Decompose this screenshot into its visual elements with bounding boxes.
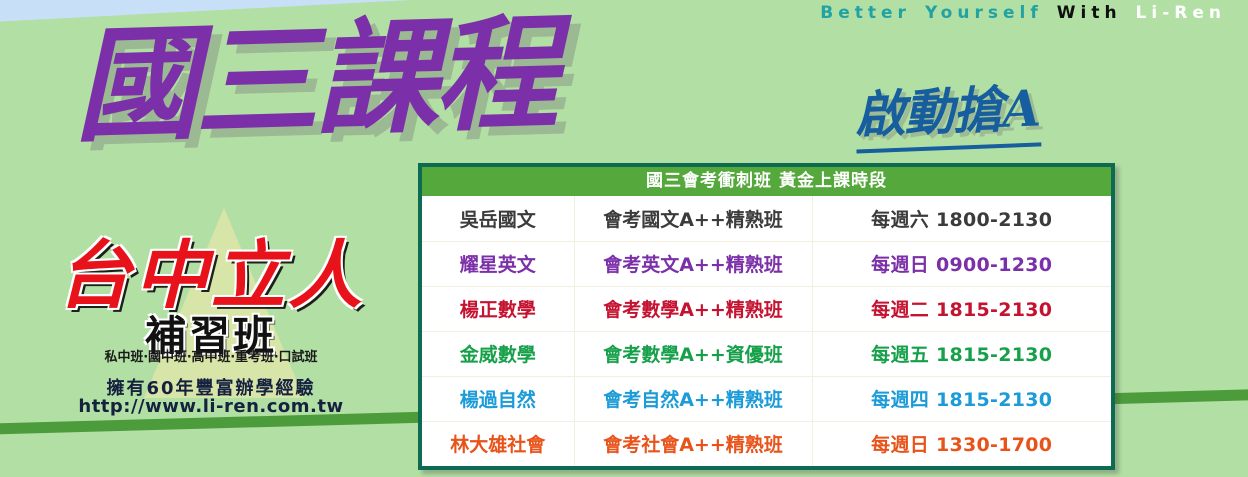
row-course-cell: 會考自然A++精熟班	[574, 376, 812, 421]
table-row: 林大雄社會會考社會A++精熟班每週日 1330-1700	[422, 421, 1111, 466]
poster-canvas: BetterYourselfWithLi-Ren 國三課程 啟動搶A 台中立人 …	[0, 0, 1248, 477]
tagline: BetterYourselfWithLi-Ren	[820, 3, 1240, 23]
row-course-cell: 會考數學A++精熟班	[574, 286, 812, 331]
row-course-cell: 會考社會A++精熟班	[574, 421, 812, 466]
row-time-cell: 每週四 1815-2130	[812, 376, 1111, 421]
table-row: 耀星英文會考英文A++精熟班每週日 0900-1230	[422, 241, 1111, 286]
tagline-word-with: With	[1057, 3, 1122, 23]
row-teacher-cell: 金威數學	[422, 331, 574, 376]
brand-logo: 台中立人 補習班 私中班‧國中班‧高中班‧重考班‧口試班 擁有60年豐富辦學經驗…	[36, 208, 386, 418]
table-row: 楊正數學會考數學A++精熟班每週二 1815-2130	[422, 286, 1111, 331]
row-teacher-cell: 耀星英文	[422, 241, 574, 286]
tagline-word-better: Better	[820, 3, 911, 23]
logo-website-url: http://www.li-ren.com.tw	[36, 396, 386, 417]
schedule-table: 吳岳國文會考國文A++精熟班每週六 1800-2130耀星英文會考英文A++精熟…	[422, 196, 1111, 466]
page-title: 國三課程	[72, 7, 556, 154]
row-course-cell: 會考數學A++資優班	[574, 331, 812, 376]
schedule-header: 國三會考衝刺班 黃金上課時段	[422, 167, 1111, 196]
row-time-cell: 每週日 1330-1700	[812, 421, 1111, 466]
row-time-cell: 每週二 1815-2130	[812, 286, 1111, 331]
tagline-word-yourself: Yourself	[925, 3, 1043, 23]
logo-class-tags: 私中班‧國中班‧高中班‧重考班‧口試班	[36, 346, 386, 365]
row-teacher-cell: 楊過自然	[422, 376, 574, 421]
row-time-cell: 每週六 1800-2130	[812, 196, 1111, 241]
row-course-cell: 會考國文A++精熟班	[574, 196, 812, 241]
row-time-cell: 每週日 0900-1230	[812, 241, 1111, 286]
tagline-word-liren: Li-Ren	[1136, 3, 1226, 23]
table-row: 吳岳國文會考國文A++精熟班每週六 1800-2130	[422, 196, 1111, 241]
row-teacher-cell: 林大雄社會	[422, 421, 574, 466]
row-teacher-cell: 吳岳國文	[422, 196, 574, 241]
row-time-cell: 每週五 1815-2130	[812, 331, 1111, 376]
row-teacher-cell: 楊正數學	[422, 286, 574, 331]
table-row: 楊過自然會考自然A++精熟班每週四 1815-2130	[422, 376, 1111, 421]
table-row: 金威數學會考數學A++資優班每週五 1815-2130	[422, 331, 1111, 376]
page-subtitle: 啟動搶A	[854, 68, 1042, 153]
row-course-cell: 會考英文A++精熟班	[574, 241, 812, 286]
schedule-panel: 國三會考衝刺班 黃金上課時段 吳岳國文會考國文A++精熟班每週六 1800-21…	[418, 163, 1115, 470]
